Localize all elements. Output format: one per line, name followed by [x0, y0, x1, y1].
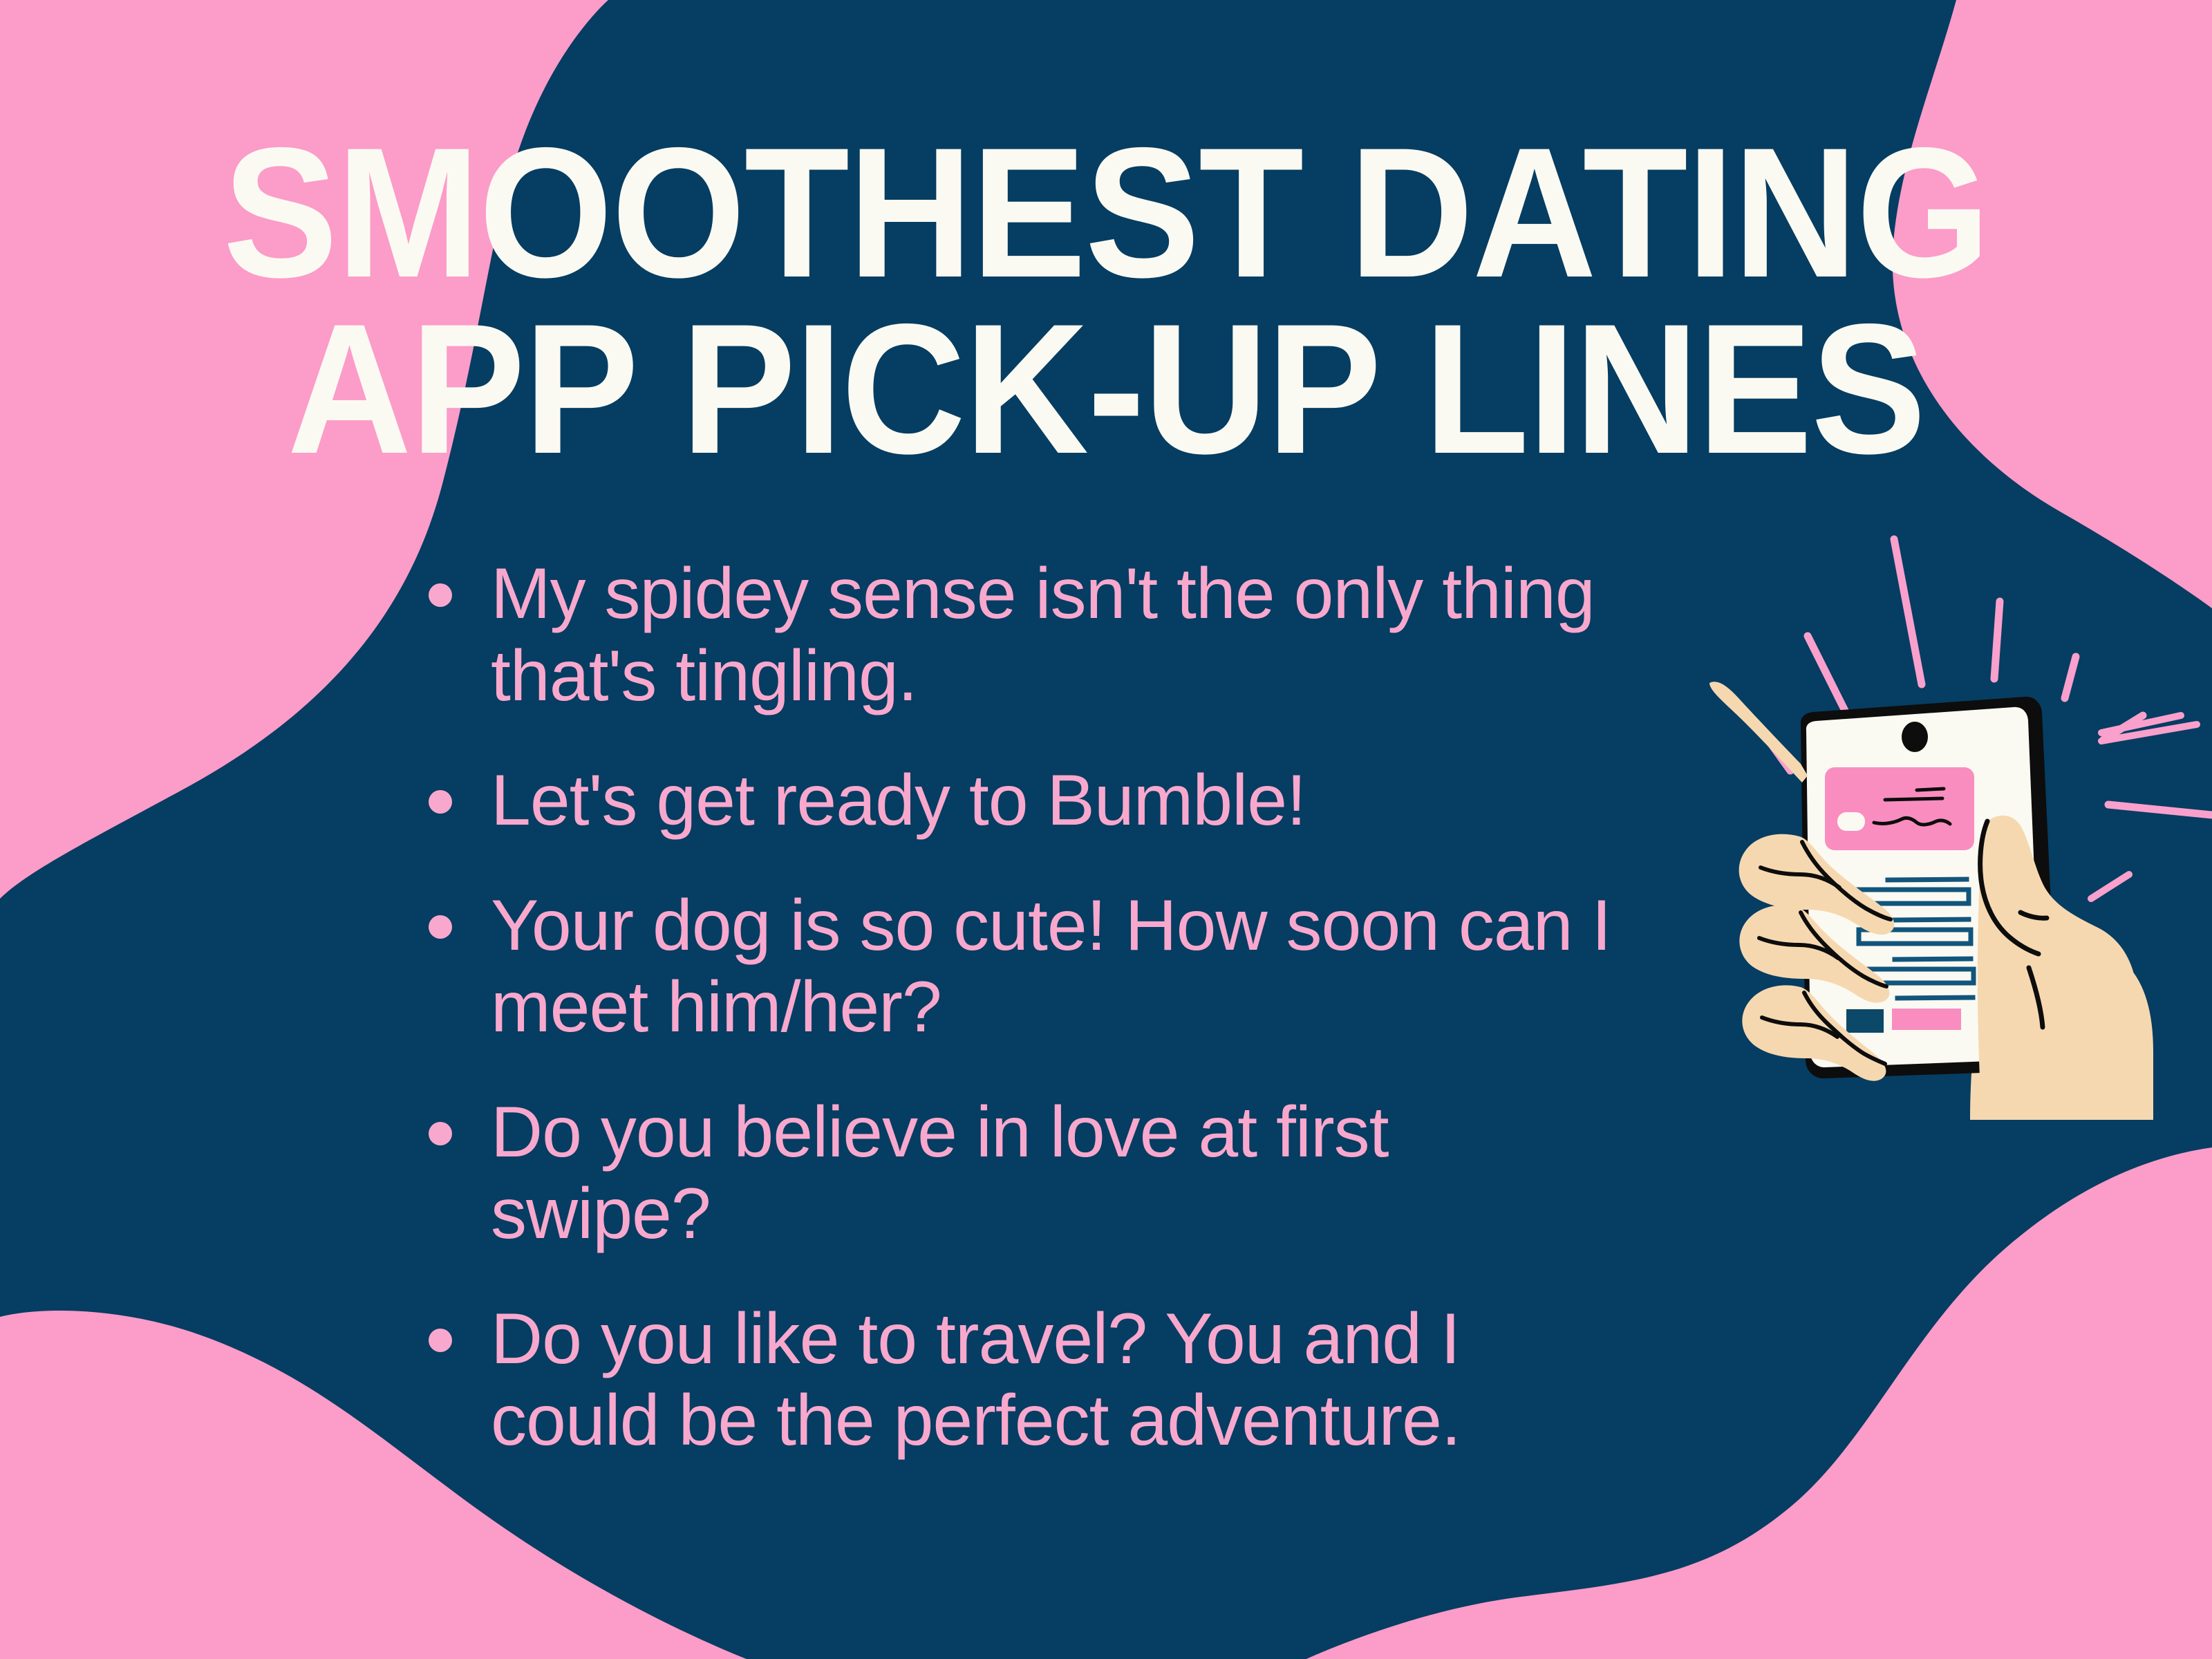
- list-item: Do you believe in love at first swipe?: [429, 1091, 1811, 1255]
- match-card[interactable]: [1825, 767, 1974, 850]
- list-item: Let's get ready to Bumble!: [429, 760, 1811, 842]
- match-card-avatar: [1837, 812, 1865, 831]
- thumb: [1978, 816, 2138, 1120]
- list-item: Do you like to travel? You and I could b…: [429, 1298, 1811, 1462]
- bullet-dot-icon: [429, 1329, 452, 1352]
- list-item-label: Do you like to travel? You and I could b…: [491, 1298, 1624, 1462]
- bullet-dot-icon: [429, 583, 452, 607]
- send-button[interactable]: [1892, 1009, 1961, 1030]
- list-item-label: My spidey sense isn't the only thing tha…: [491, 553, 1624, 717]
- poster-canvas: SMOOTHEST DATING APP PICK-UP LINES My sp…: [0, 0, 2212, 1659]
- list-item: Your dog is so cute! How soon can I meet…: [429, 885, 1811, 1049]
- list-item-label: Do you believe in love at first swipe?: [491, 1091, 1624, 1255]
- title-line-1: SMOOTHEST DATING: [77, 124, 2135, 301]
- front-camera-icon: [1902, 722, 1928, 752]
- title-line-2: APP PICK-UP LINES: [77, 301, 2135, 477]
- bullet-dot-icon: [429, 915, 452, 939]
- bullet-dot-icon: [429, 1122, 452, 1145]
- composer-icon: [1846, 1009, 1884, 1033]
- list-item-label: Your dog is so cute! How soon can I meet…: [491, 885, 1624, 1049]
- list-item-label: Let's get ready to Bumble!: [491, 760, 1306, 842]
- match-card-background: [1825, 767, 1974, 850]
- bullet-dot-icon: [429, 790, 452, 814]
- list-item: My spidey sense isn't the only thing tha…: [429, 553, 1811, 717]
- poster-title: SMOOTHEST DATING APP PICK-UP LINES: [0, 124, 2212, 476]
- composer-row[interactable]: [1846, 1009, 1961, 1033]
- pickup-line-list: My spidey sense isn't the only thing tha…: [429, 553, 1811, 1462]
